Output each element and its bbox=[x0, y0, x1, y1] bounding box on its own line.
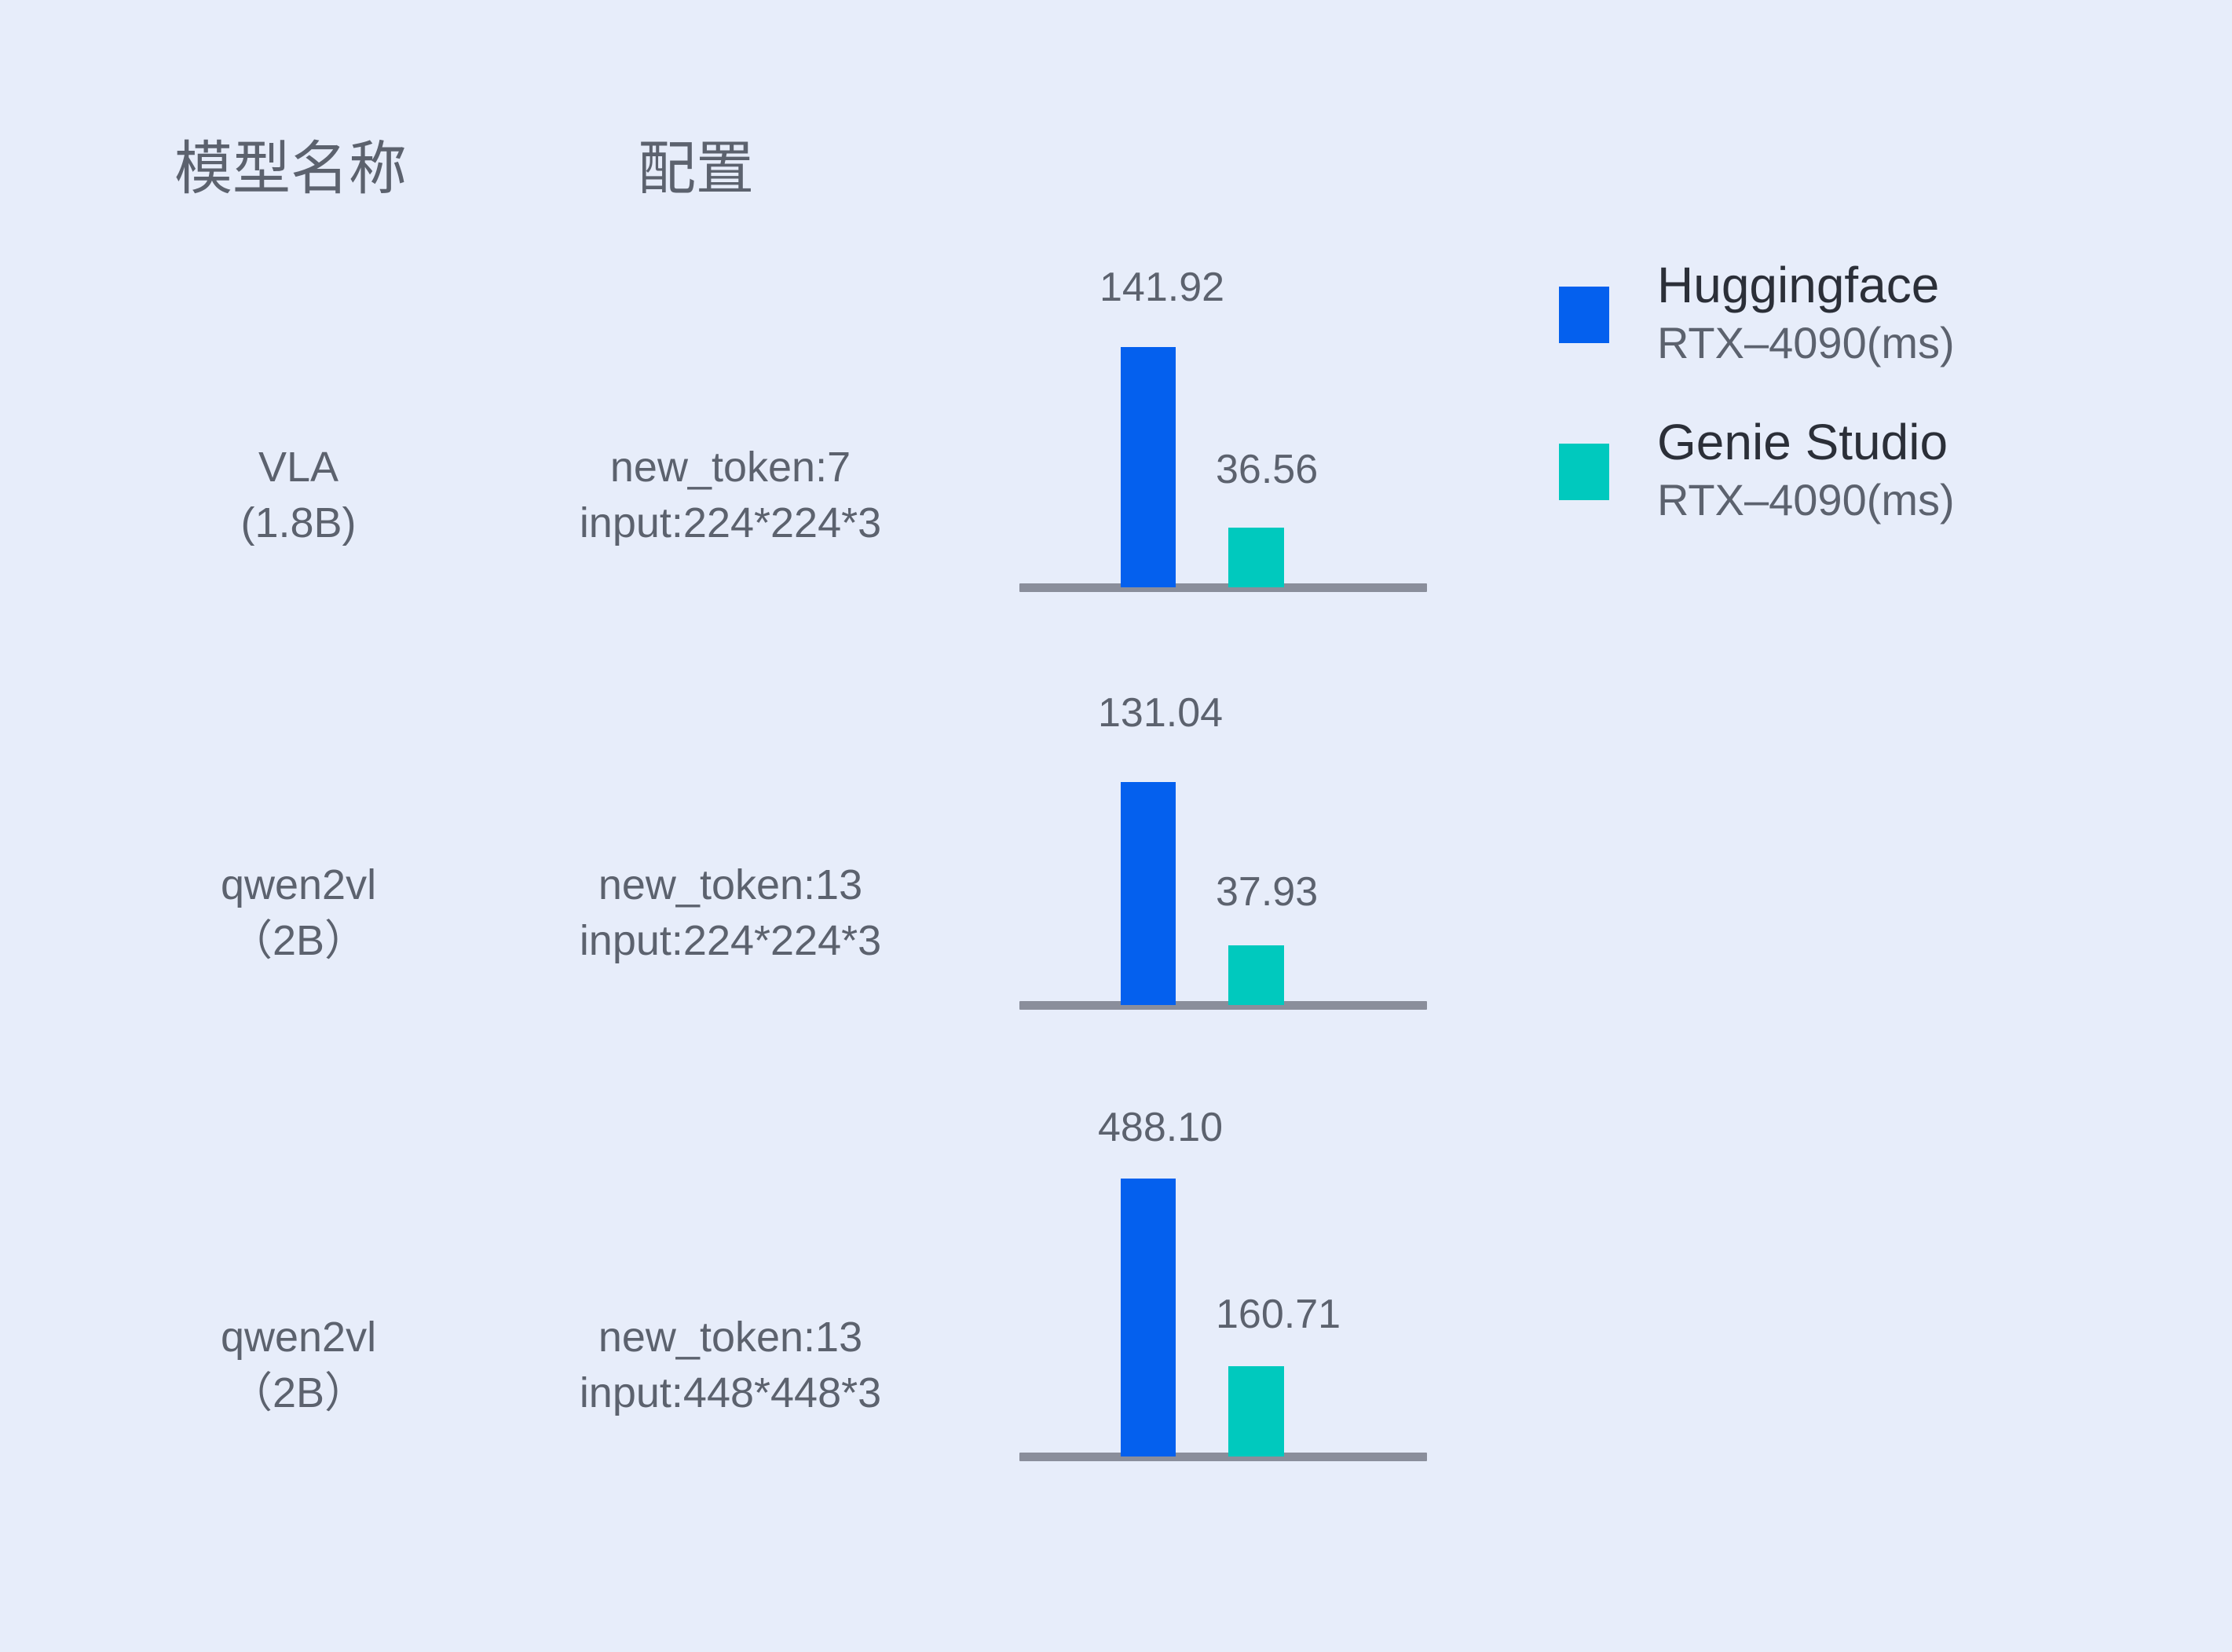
legend-text-group: Genie Studio RTX–4090(ms) bbox=[1657, 412, 1955, 528]
legend-swatch-icon bbox=[1559, 444, 1609, 500]
legend-item-genie-studio[interactable]: Genie Studio RTX–4090(ms) bbox=[1559, 412, 2156, 569]
bar-huggingface[interactable] bbox=[1121, 782, 1176, 1005]
bar-huggingface[interactable] bbox=[1121, 347, 1176, 587]
legend-subtitle: RTX–4090(ms) bbox=[1657, 473, 1955, 528]
bar-huggingface[interactable] bbox=[1121, 1179, 1176, 1456]
row-baseline bbox=[1019, 583, 1427, 592]
bar-genie-studio[interactable] bbox=[1228, 945, 1284, 1005]
legend-text-group: Huggingface RTX–4090(ms) bbox=[1657, 255, 1955, 371]
legend-item-huggingface[interactable]: Huggingface RTX–4090(ms) bbox=[1559, 255, 2156, 412]
bar-value-label: 36.56 bbox=[1216, 449, 1318, 490]
bar-plot-area: 141.92 36.56 131.04 37.93 488.10 160.71 bbox=[0, 0, 2232, 1652]
row-baseline bbox=[1019, 1001, 1427, 1010]
row-baseline bbox=[1019, 1453, 1427, 1461]
bar-value-label: 37.93 bbox=[1216, 872, 1318, 912]
legend-title: Huggingface bbox=[1657, 255, 1955, 316]
legend-swatch-icon bbox=[1559, 287, 1609, 343]
bar-value-label: 131.04 bbox=[1098, 693, 1223, 733]
bar-genie-studio[interactable] bbox=[1228, 528, 1284, 587]
chart-legend: Huggingface RTX–4090(ms) Genie Studio RT… bbox=[1559, 255, 2156, 569]
chart-canvas: 模型名称 配置 VLA (1.8B) new_token:7 input:224… bbox=[0, 0, 2232, 1652]
legend-subtitle: RTX–4090(ms) bbox=[1657, 316, 1955, 371]
bar-genie-studio[interactable] bbox=[1228, 1366, 1284, 1456]
bar-value-label: 141.92 bbox=[1100, 267, 1224, 308]
bar-value-label: 160.71 bbox=[1216, 1294, 1341, 1335]
legend-title: Genie Studio bbox=[1657, 412, 1955, 473]
bar-value-label: 488.10 bbox=[1098, 1107, 1223, 1148]
